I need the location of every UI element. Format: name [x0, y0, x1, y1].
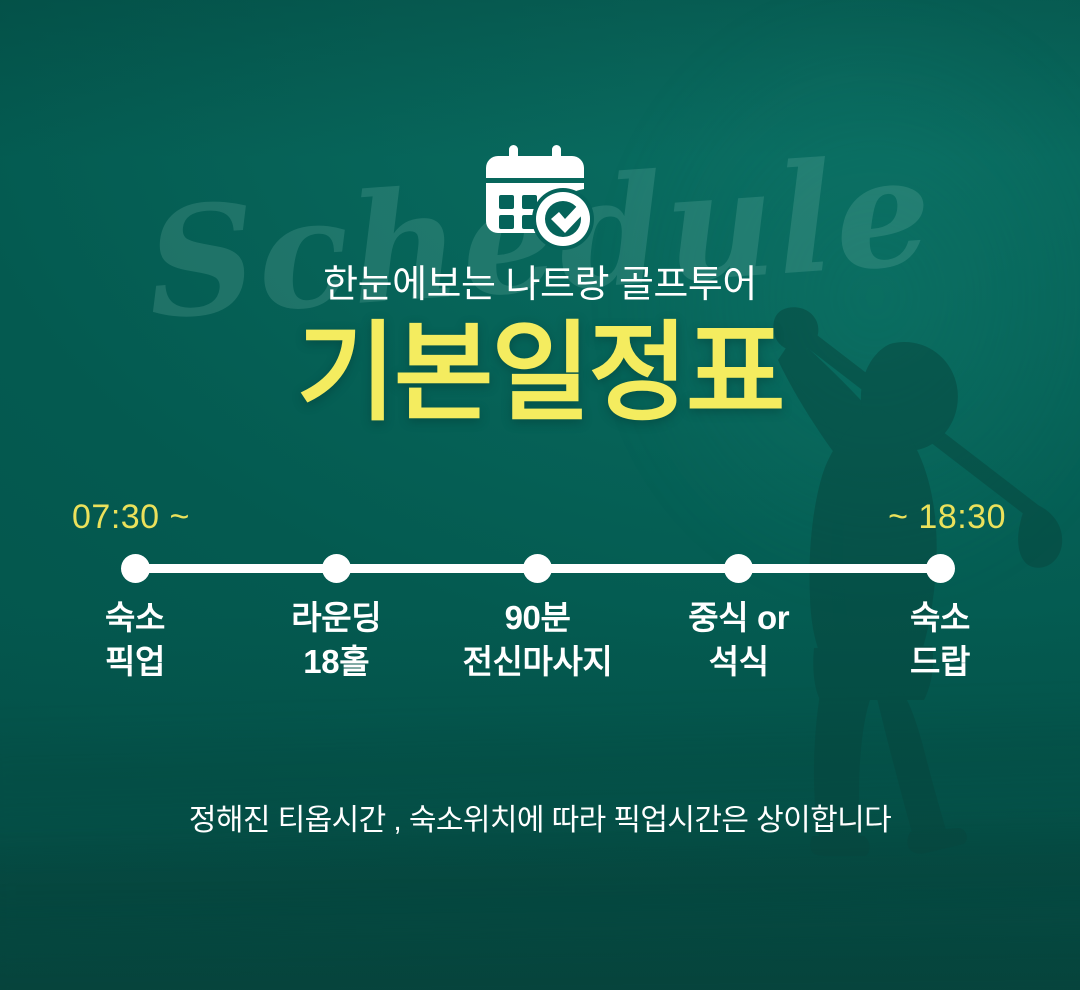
poster-header: 한눈에보는 나트랑 골프투어 기본일정표: [0, 143, 1080, 434]
timeline-nodes: [135, 554, 940, 584]
timeline-stop-line2: 드랍: [910, 640, 970, 684]
timeline-stop-line1: 숙소: [105, 599, 165, 636]
calendar-check-icon: [484, 143, 596, 251]
page-title: 기본일정표: [0, 313, 1080, 434]
timeline-stop: 라운딩18홀: [291, 596, 381, 683]
timeline-node: [121, 554, 150, 583]
timeline-stop-line1: 90분: [505, 599, 571, 636]
poster-subtitle: 한눈에보는 나트랑 골프투어: [0, 265, 1080, 307]
schedule-poster: Schedule: [0, 0, 1080, 990]
timeline-stop-line2: 전신마사지: [463, 640, 613, 684]
timeline-node: [523, 554, 552, 583]
timeline-stop: 중식 or석식: [688, 596, 789, 683]
schedule-timeline: 07:30 ~ ~ 18:30 숙소픽업라운딩18홀90분전신마사지중식 or석…: [0, 498, 1080, 718]
timeline-stop-line1: 숙소: [910, 599, 970, 636]
timeline-stop-line2: 18홀: [291, 640, 381, 684]
start-time-label: 07:30 ~: [72, 498, 190, 537]
end-time-label: ~ 18:30: [888, 498, 1006, 537]
footnote-text: 정해진 티옵시간 , 숙소위치에 따라 픽업시간은 상이합니다: [0, 795, 1080, 839]
timeline-stop: 숙소드랍: [910, 596, 970, 683]
timeline-stop-line2: 석식: [688, 640, 789, 684]
timeline-stop-line1: 중식 or: [688, 599, 789, 636]
timeline-node: [926, 554, 955, 583]
timeline-stop-line2: 픽업: [105, 640, 165, 684]
timeline-stop: 90분전신마사지: [463, 596, 613, 683]
timeline-node: [724, 554, 753, 583]
timeline-node: [322, 554, 351, 583]
timeline-stop: 숙소픽업: [105, 596, 165, 683]
timeline-stop-line1: 라운딩: [291, 599, 381, 636]
